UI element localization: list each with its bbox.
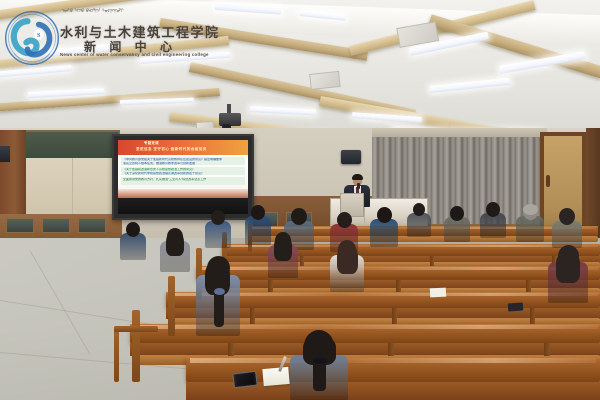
- slide-footer-graphic: [118, 189, 248, 198]
- aisle-chair: [114, 326, 158, 332]
- slide-line: 全面贯彻党的教育方针，扎实推进"三全育人"综合改革试点工作: [123, 178, 243, 182]
- slide-line: 《关于深化新时代学校思想政治理论课改革创新的若干意见》: [123, 172, 243, 176]
- note-paper-on-desk: [430, 288, 446, 298]
- microphone-icon: [357, 183, 360, 189]
- audience-member: [120, 222, 146, 260]
- ceiling-vent: [309, 71, 341, 90]
- slide-banner-subtitle: 坚定信念 坚守初心 做新时代的合格党员: [136, 147, 244, 152]
- audience-member-head: [486, 202, 500, 217]
- audience-member-hair: [556, 251, 580, 283]
- audience-member: [290, 330, 348, 400]
- audience-member-torso: [407, 213, 431, 237]
- audience-member-head: [291, 208, 307, 225]
- audience-member-head: [251, 205, 265, 220]
- recessed-desk-monitor: [42, 218, 70, 233]
- photo-canvas: 专题党课 坚定信念 坚守初心 做新时代的合格党员 《中共教育部党组关于加强新时代…: [0, 0, 600, 400]
- audience-member: [160, 228, 190, 272]
- aisle-chair: [114, 326, 119, 382]
- audience-member-head: [559, 208, 575, 225]
- presenter-hair: [352, 174, 363, 180]
- presentation-slide: 专题党课 坚定信念 坚守初心 做新时代的合格党员 《中共教育部党组关于加强新时代…: [118, 140, 248, 198]
- door-handle-icon[interactable]: [546, 175, 550, 187]
- audience-member: [370, 207, 398, 247]
- slide-line: 落实立德树人根本任务，推进教育教学改革与创新发展: [123, 162, 243, 166]
- audience-member: [407, 203, 431, 237]
- left-wall-panel: [24, 158, 122, 216]
- audience-member: [196, 256, 240, 336]
- audience-member-head: [413, 203, 425, 216]
- ceiling-light: [430, 78, 510, 93]
- smartphone-on-desk: [508, 302, 524, 311]
- audience-member-head: [337, 212, 352, 228]
- audience-member-torso: [370, 219, 398, 247]
- audience-member: [444, 206, 470, 242]
- audience-member: [552, 208, 582, 248]
- ceiling-light: [250, 106, 316, 115]
- audience-member-head: [126, 222, 140, 237]
- audience-member-torso: [552, 221, 582, 248]
- wall-speaker-icon: [0, 146, 10, 162]
- audience-member-hair: [274, 236, 292, 261]
- recessed-desk-monitor: [6, 218, 34, 233]
- audience-member-head: [450, 206, 464, 221]
- audience-member: [480, 202, 506, 238]
- projection-screen: 专题党课 坚定信念 坚守初心 做新时代的合格党员 《中共教育部党组关于加强新时代…: [112, 134, 254, 220]
- slide-banner-title: 专题党课: [144, 141, 244, 145]
- audience-member-ponytail: [214, 290, 224, 327]
- recessed-desk-monitor: [78, 218, 106, 233]
- hair-scrunchie: [313, 358, 327, 364]
- audience-member: [548, 245, 588, 303]
- audience-member-torso: [120, 233, 146, 260]
- smartphone-on-desk: [232, 371, 258, 389]
- audience-member: [205, 210, 231, 248]
- bench-end: [132, 310, 140, 382]
- audience-member-hair: [523, 204, 538, 215]
- ceiling-light: [140, 52, 230, 64]
- audience-member-head: [211, 210, 225, 225]
- wall-speaker-icon: [341, 150, 361, 164]
- audience-member-head: [377, 207, 392, 223]
- hair-scrunchie: [214, 288, 225, 295]
- audience-member: [268, 232, 298, 278]
- audience-member: [330, 240, 364, 292]
- audience-member-hair: [166, 232, 184, 256]
- audience-member: [516, 204, 544, 242]
- audience-member-torso: [205, 221, 231, 248]
- note-paper-on-desk: [262, 367, 289, 386]
- audience-member-hair: [337, 245, 358, 274]
- curtain-rail: [372, 128, 547, 137]
- bench-end: [168, 276, 175, 336]
